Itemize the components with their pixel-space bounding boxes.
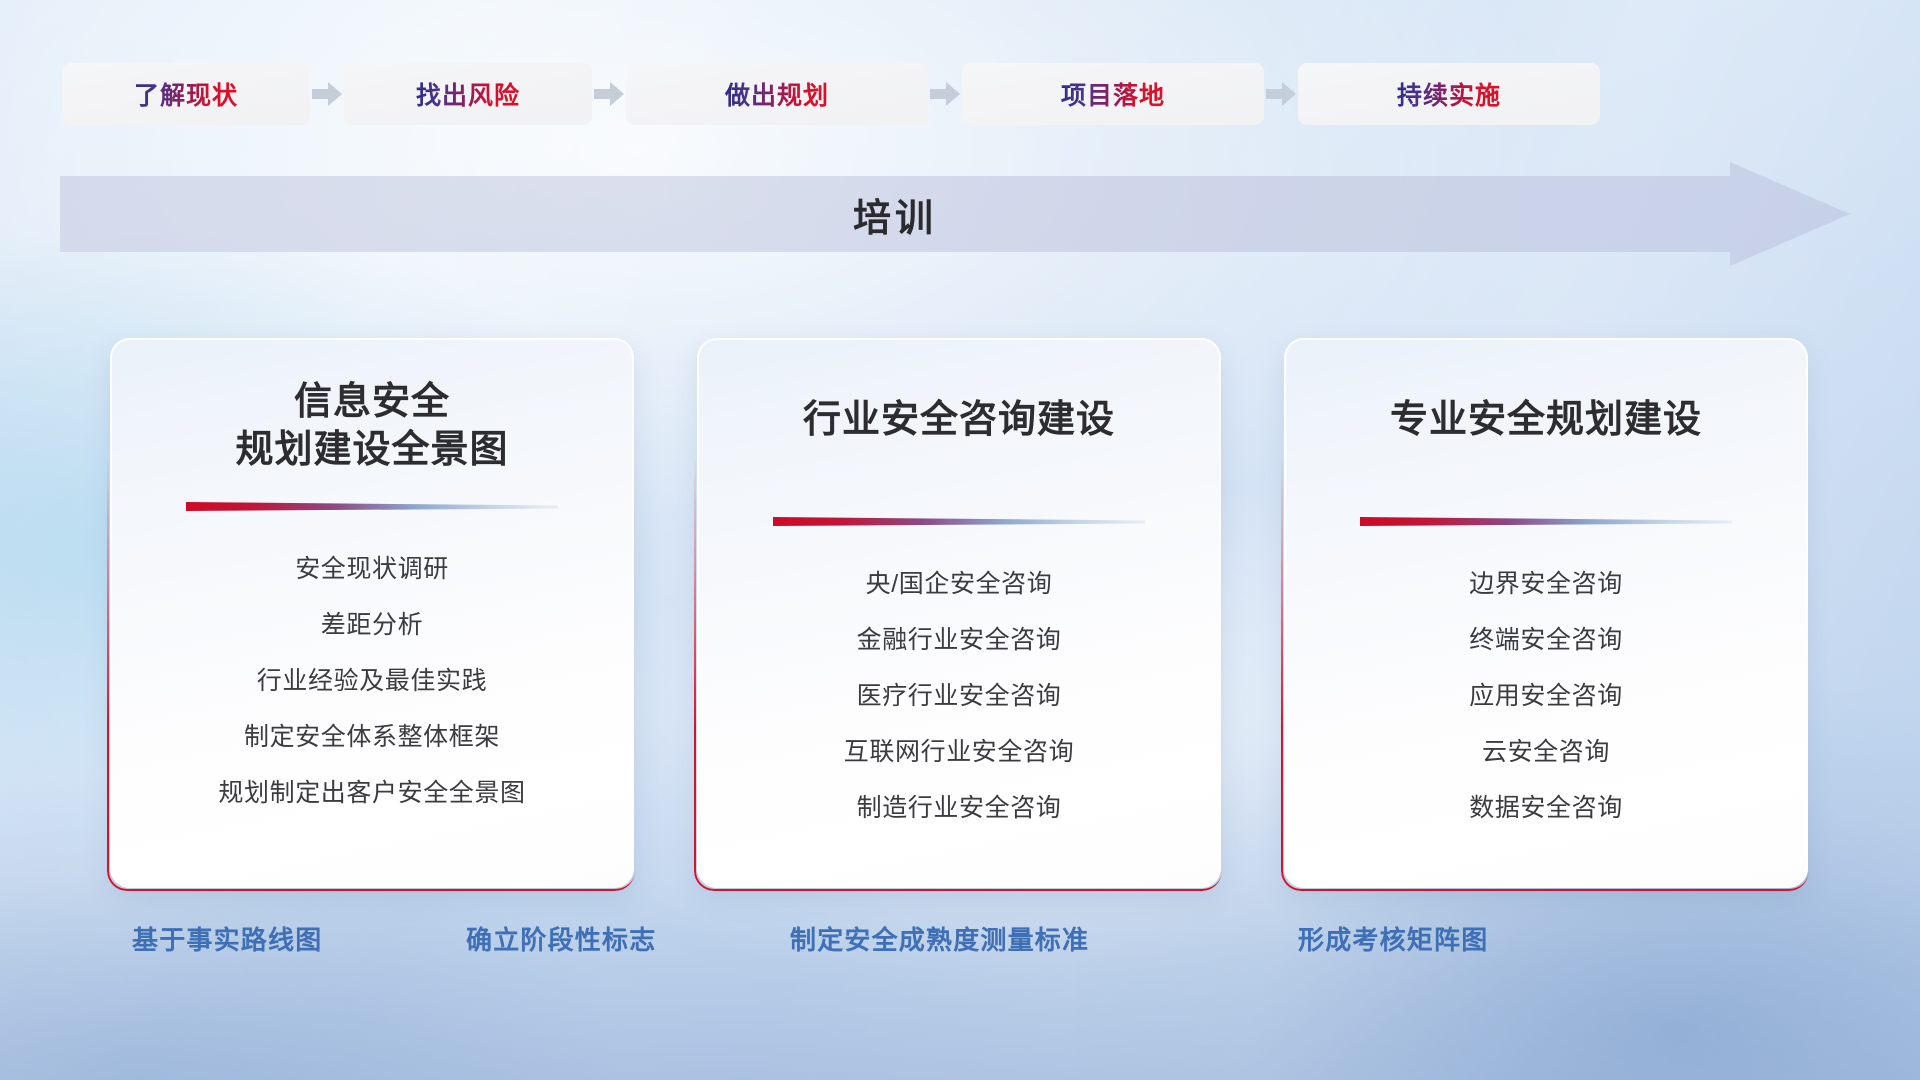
service-card-1-title-line-1: 信息安全: [138, 378, 606, 426]
process-step-3[interactable]: 做出规划: [626, 63, 928, 125]
outcome-note-4: 形成考核矩阵图: [1298, 920, 1488, 957]
list-item: 制造行业安全咨询: [857, 788, 1062, 824]
list-item: 终端安全咨询: [1469, 620, 1623, 656]
list-item: 云安全咨询: [1482, 732, 1610, 768]
list-item: 金融行业安全咨询: [857, 620, 1062, 656]
process-step-5[interactable]: 持续实施: [1298, 63, 1600, 125]
outcome-note-1: 基于事实路线图: [132, 920, 322, 957]
training-banner-label: 培训: [60, 162, 1730, 266]
list-item: 医疗行业安全咨询: [857, 676, 1062, 712]
process-step-4[interactable]: 项目落地: [962, 63, 1264, 125]
process-step-2-label: 找出风险: [416, 76, 520, 112]
process-step-2[interactable]: 找出风险: [344, 63, 592, 125]
process-step-3-label: 做出规划: [725, 76, 829, 112]
list-item: 边界安全咨询: [1469, 564, 1623, 600]
service-card-3-item-list: 边界安全咨询 终端安全咨询 应用安全咨询 云安全咨询 数据安全咨询: [1312, 564, 1780, 824]
outcome-note-row: 基于事实路线图 确立阶段性标志 制定安全成熟度测量标准 形成考核矩阵图: [0, 920, 1920, 966]
card-2-gradient-divider: [773, 516, 1145, 528]
service-card-3-title-line-1: 专业安全规划建设: [1312, 396, 1780, 444]
card-1-gradient-divider: [186, 501, 558, 513]
service-card-1-title-line-2: 规划建设全景图: [138, 426, 606, 474]
list-item: 互联网行业安全咨询: [844, 732, 1074, 768]
service-card-2-title: 行业安全咨询建设: [725, 338, 1193, 444]
list-item: 规划制定出客户安全全景图: [218, 773, 525, 809]
process-step-flow: 了解现状 找出风险 做出规划 项目落地 持续实施: [62, 63, 1862, 125]
service-card-row: 信息安全 规划建设全景图: [110, 338, 1810, 888]
service-card-information-security-blueprint[interactable]: 信息安全 规划建设全景图: [110, 338, 634, 888]
process-step-4-label: 项目落地: [1061, 76, 1165, 112]
service-card-3-title: 专业安全规划建设: [1312, 338, 1780, 444]
service-card-1-item-list: 安全现状调研 差距分析 行业经验及最佳实践 制定安全体系整体框架 规划制定出客户…: [138, 549, 606, 809]
list-item: 安全现状调研: [295, 549, 449, 585]
chevron-right-icon: [1264, 79, 1298, 109]
service-card-2-item-list: 央/国企安全咨询 金融行业安全咨询 医疗行业安全咨询 互联网行业安全咨询 制造行…: [725, 564, 1193, 824]
list-item: 央/国企安全咨询: [866, 564, 1053, 600]
list-item: 数据安全咨询: [1469, 788, 1623, 824]
outcome-note-3: 制定安全成熟度测量标准: [790, 920, 1089, 957]
service-card-professional-security-planning[interactable]: 专业安全规划建设: [1284, 338, 1808, 888]
chevron-right-icon: [592, 79, 626, 109]
list-item: 制定安全体系整体框架: [244, 717, 500, 753]
list-item: 应用安全咨询: [1469, 676, 1623, 712]
process-step-1[interactable]: 了解现状: [62, 63, 310, 125]
list-item: 行业经验及最佳实践: [257, 661, 487, 697]
service-card-1-title: 信息安全 规划建设全景图: [138, 338, 606, 475]
process-step-5-label: 持续实施: [1397, 76, 1501, 112]
chevron-right-icon: [310, 79, 344, 109]
service-card-industry-security-consulting[interactable]: 行业安全咨询建设: [697, 338, 1221, 888]
service-card-2-title-line-1: 行业安全咨询建设: [725, 396, 1193, 444]
process-step-1-label: 了解现状: [134, 76, 238, 112]
list-item: 差距分析: [321, 605, 423, 641]
training-arrow-banner: 培训: [60, 162, 1850, 266]
outcome-note-2: 确立阶段性标志: [466, 920, 656, 957]
chevron-right-icon: [928, 79, 962, 109]
card-3-gradient-divider: [1360, 516, 1732, 528]
